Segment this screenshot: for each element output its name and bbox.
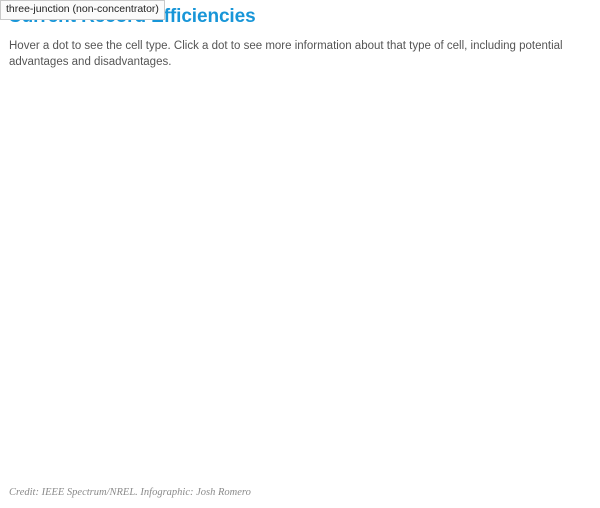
credit-line: Credit: IEEE Spectrum/NREL. Infographic:… xyxy=(9,487,251,498)
scatter-plot-area xyxy=(0,98,600,458)
point-tooltip: three-junction (non-concentrator) xyxy=(0,0,165,20)
page-subtitle: Hover a dot to see the cell type. Click … xyxy=(9,38,569,70)
infographic-root: Current Record Efficiencies Hover a dot … xyxy=(0,0,600,508)
